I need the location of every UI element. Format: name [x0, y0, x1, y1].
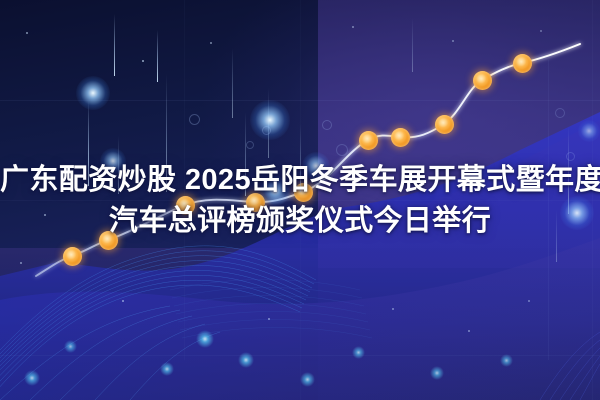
light-ray	[114, 14, 115, 76]
ring-particle	[189, 114, 200, 125]
sparkle	[452, 40, 454, 42]
chart-data-point	[435, 115, 454, 134]
sparkle	[392, 308, 394, 310]
glow-particle	[300, 372, 315, 387]
glow-particle	[196, 330, 214, 348]
title-line-2: 汽车总评榜颁奖仪式今日举行	[0, 201, 600, 242]
sparkle	[26, 32, 28, 34]
glow-particle	[160, 362, 174, 376]
chart-data-point	[391, 128, 410, 147]
light-ray	[232, 48, 233, 118]
chart-data-point	[63, 247, 82, 266]
sparkle	[352, 26, 354, 28]
glow-particle	[76, 76, 110, 110]
sparkle	[268, 318, 270, 320]
ring-particle	[262, 126, 271, 135]
sparkle	[468, 330, 470, 332]
sparkle	[210, 42, 212, 44]
chart-data-point	[473, 71, 492, 90]
chart-data-point	[359, 131, 378, 150]
ring-particle	[246, 141, 254, 149]
glow-particle	[578, 120, 600, 142]
ring-particle	[555, 108, 565, 118]
sparkle	[142, 60, 144, 62]
glow-particle	[352, 346, 365, 359]
glow-particle	[64, 340, 77, 353]
glow-particle	[430, 366, 444, 380]
sparkle	[528, 300, 530, 302]
glow-particle	[250, 100, 290, 140]
sparkle	[122, 300, 124, 302]
banner-image: 广东配资炒股 2025岳阳冬季车展开幕式暨年度 汽车总评榜颁奖仪式今日举行	[0, 0, 600, 400]
glow-particle	[24, 370, 40, 386]
title-line-1: 广东配资炒股 2025岳阳冬季车展开幕式暨年度	[0, 160, 600, 201]
glow-particle	[500, 354, 513, 367]
banner-title: 广东配资炒股 2025岳阳冬季车展开幕式暨年度 汽车总评榜颁奖仪式今日举行	[0, 160, 600, 242]
ring-particle	[322, 120, 332, 130]
sparkle	[20, 262, 22, 264]
chart-data-point	[513, 54, 532, 73]
light-ray	[157, 30, 158, 82]
ring-particle	[336, 144, 348, 156]
light-ray	[412, 18, 413, 72]
glow-particle	[238, 352, 254, 368]
sparkle	[540, 30, 542, 32]
